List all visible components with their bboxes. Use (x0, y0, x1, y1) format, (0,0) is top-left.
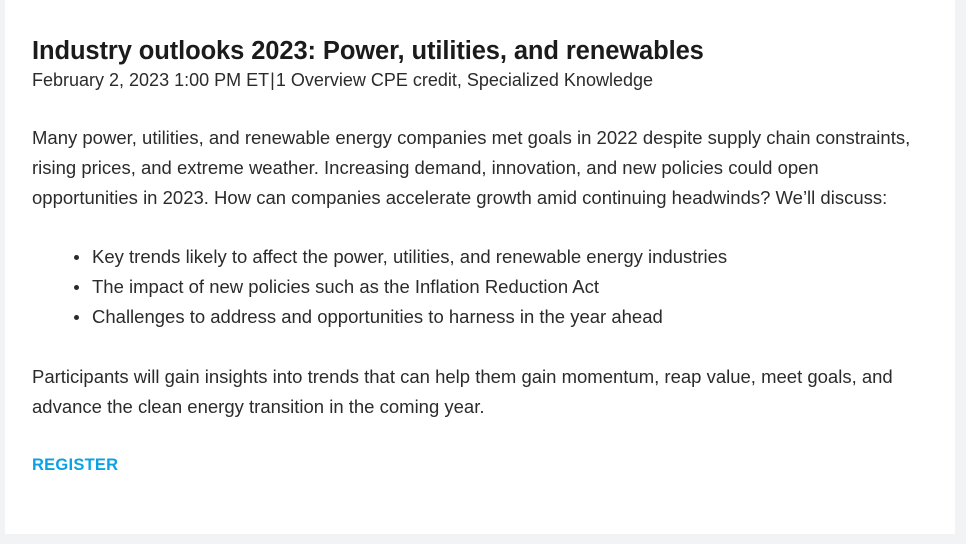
outro-paragraph: Participants will gain insights into tre… (32, 362, 925, 422)
register-link[interactable]: REGISTER (32, 456, 118, 475)
cta-row: REGISTER (32, 456, 925, 475)
cpe-credit: 1 Overview CPE credit, Specialized Knowl… (276, 70, 653, 90)
intro-paragraph: Many power, utilities, and renewable ene… (32, 123, 925, 213)
list-item: Key trends likely to affect the power, u… (92, 242, 925, 272)
list-item: The impact of new policies such as the I… (92, 272, 925, 302)
event-datetime: February 2, 2023 1:00 PM ET (32, 70, 269, 90)
topics-list: Key trends likely to affect the power, u… (32, 242, 925, 332)
list-item: Challenges to address and opportunities … (92, 302, 925, 332)
page-title: Industry outlooks 2023: Power, utilities… (32, 36, 925, 67)
content-card: Industry outlooks 2023: Power, utilities… (5, 0, 955, 534)
event-meta: February 2, 2023 1:00 PM ET|1 Overview C… (32, 69, 925, 93)
article-body: Industry outlooks 2023: Power, utilities… (5, 0, 955, 475)
meta-separator: | (269, 70, 276, 90)
